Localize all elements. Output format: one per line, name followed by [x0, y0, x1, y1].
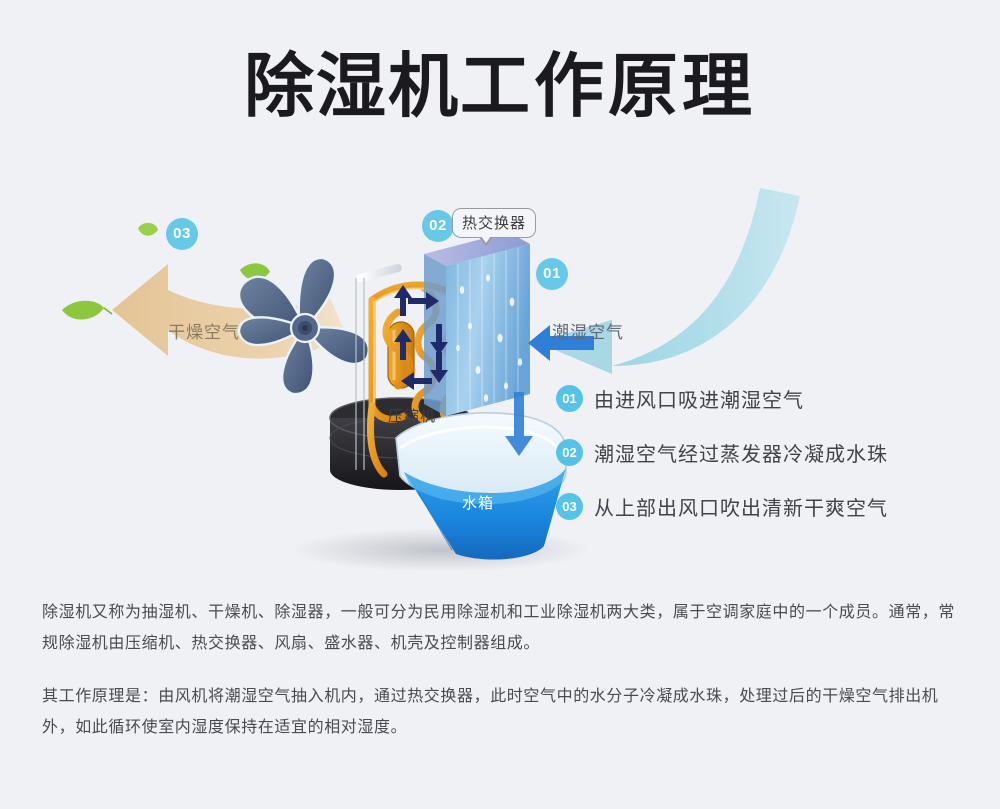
legend-badge-02: 02 [556, 439, 583, 466]
body-paragraph-1: 除湿机又称为抽湿机、干燥机、除湿器，一般可分为民用除湿机和工业除湿机两大类，属于… [42, 597, 960, 659]
callout-heat-exchanger: 热交换器 [452, 208, 536, 238]
legend-item-01: 01 由进风口吸进潮湿空气 [556, 371, 976, 425]
body-paragraph-2: 其工作原理是：由风机将潮湿空气抽入机内，通过热交换器，此时空气中的水分子冷凝成水… [42, 681, 960, 743]
badge-01-humid-air: 01 [536, 258, 568, 290]
page-title: 除湿机工作原理 [0, 48, 1000, 125]
leaf-icon [138, 223, 158, 236]
leaf-icon [62, 301, 104, 320]
page-title-sub: 工作原理 [460, 47, 756, 125]
label-water-tank: 水箱 [462, 492, 494, 513]
badge-02-heat-exchanger: 02 [422, 210, 454, 242]
legend-badge-01: 01 [556, 385, 583, 412]
page-title-main: 除湿机 [244, 47, 460, 125]
label-compressor: 压缩机 [388, 405, 436, 426]
body-copy: 除湿机又称为抽湿机、干燥机、除湿器，一般可分为民用除湿机和工业除湿机两大类，属于… [42, 597, 960, 743]
legend-text-03: 从上部出风口吹出清新干爽空气 [594, 492, 888, 521]
label-humid-air: 潮湿空气 [552, 318, 624, 343]
legend-list: 01 由进风口吸进潮湿空气 02 潮湿空气经过蒸发器冷凝成水珠 03 从上部出风… [556, 371, 976, 533]
label-dry-air: 干燥空气 [168, 318, 240, 343]
legend-text-02: 潮湿空气经过蒸发器冷凝成水珠 [594, 438, 888, 467]
legend-item-03: 03 从上部出风口吹出清新干爽空气 [556, 479, 976, 533]
legend-text-01: 由进风口吸进潮湿空气 [594, 384, 804, 413]
leaf-icon [104, 308, 112, 314]
badge-03-dry-air: 03 [166, 218, 198, 250]
legend-badge-03: 03 [556, 493, 583, 520]
fan-icon [239, 258, 369, 394]
legend-item-02: 02 潮湿空气经过蒸发器冷凝成水珠 [556, 425, 976, 479]
